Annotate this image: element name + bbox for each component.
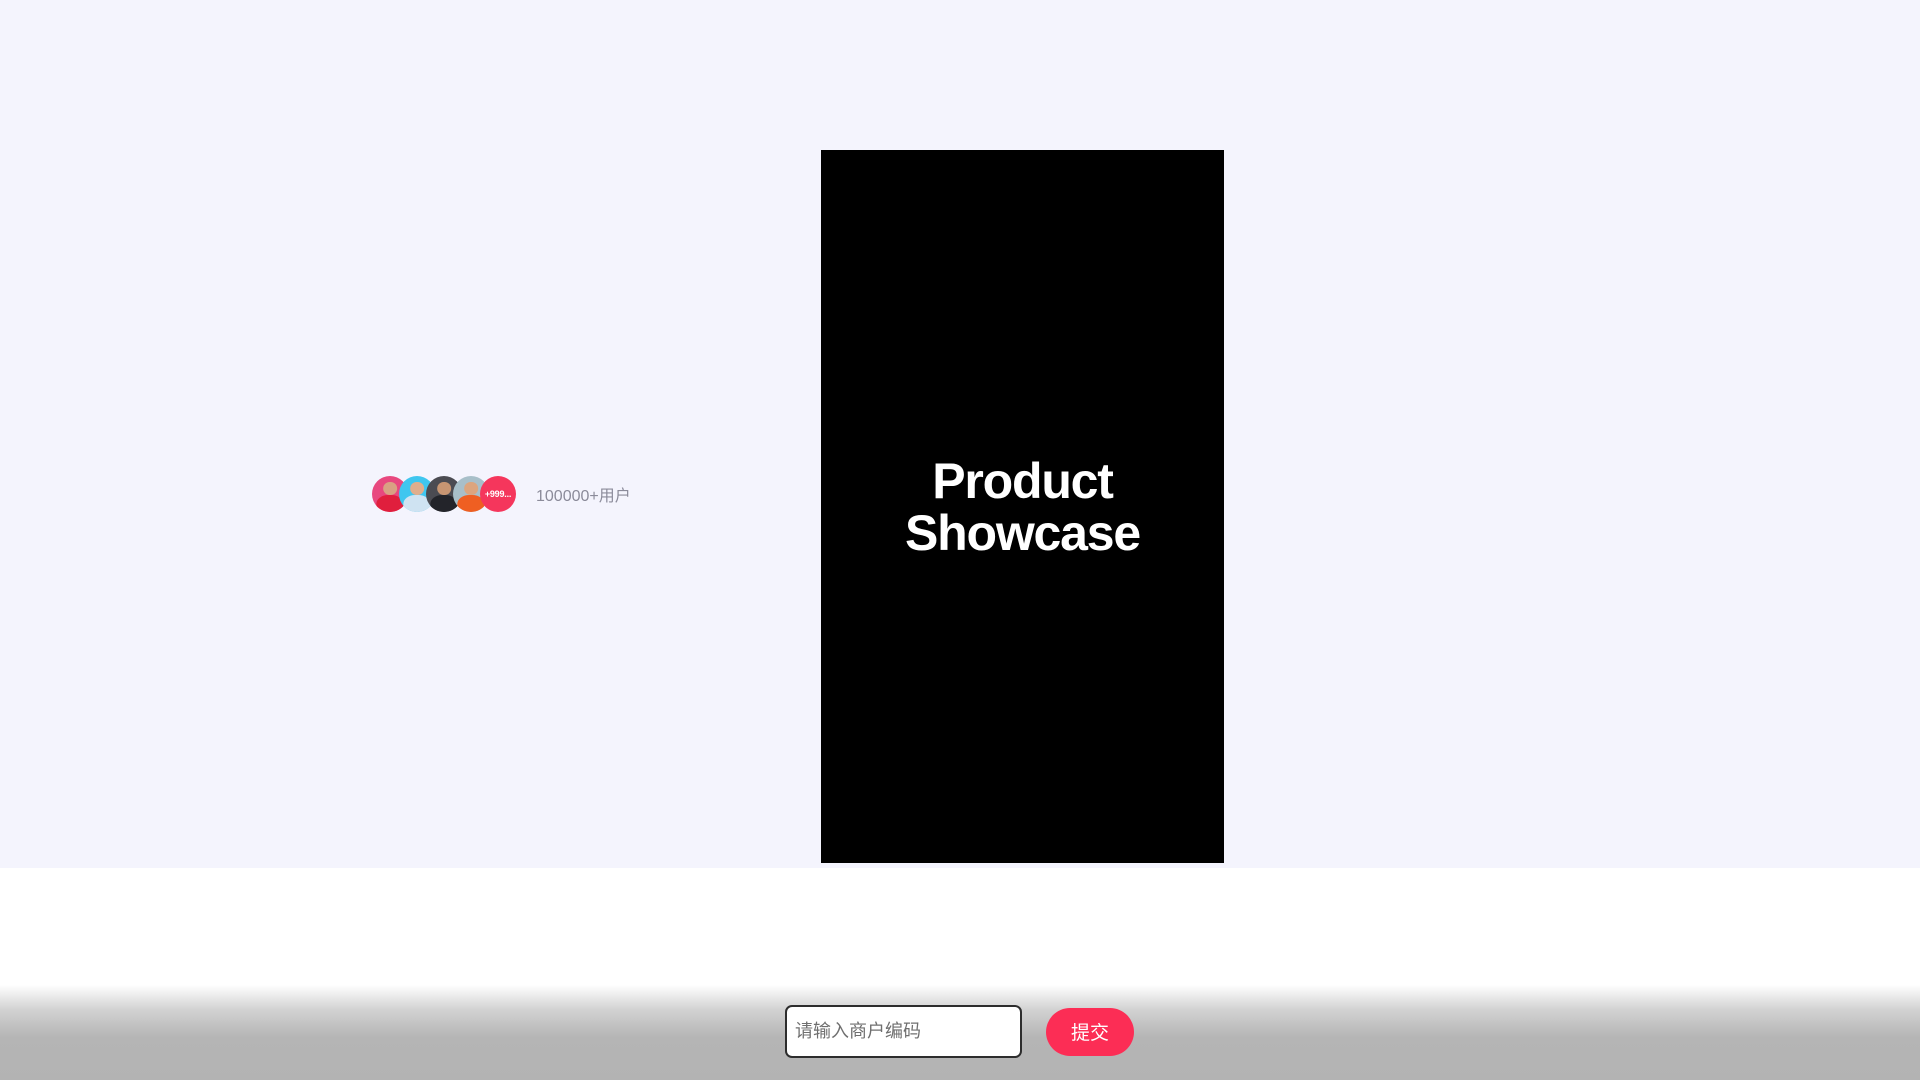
bottom-bar-controls: 提交	[785, 1005, 1134, 1058]
hero-section: +999... 100000+用户 Product Showcase	[0, 0, 1920, 868]
avatar-stack: +999...	[372, 476, 516, 512]
avatar-head-shape	[437, 482, 451, 496]
social-proof-cluster: +999... 100000+用户	[372, 476, 631, 512]
submit-button[interactable]: 提交	[1046, 1008, 1134, 1056]
avatar-head-shape	[410, 482, 424, 496]
merchant-code-input[interactable]	[785, 1005, 1022, 1058]
user-count-label: 100000+用户	[536, 482, 631, 506]
avatar-head-shape	[464, 482, 478, 496]
bottom-action-bar: 提交	[0, 985, 1920, 1080]
avatar-overflow-badge: +999...	[480, 476, 516, 512]
avatar-head-shape	[383, 482, 397, 496]
product-showcase-card: Product Showcase	[821, 150, 1224, 863]
product-showcase-title: Product Showcase	[895, 455, 1150, 559]
white-spacer-band	[0, 868, 1920, 985]
